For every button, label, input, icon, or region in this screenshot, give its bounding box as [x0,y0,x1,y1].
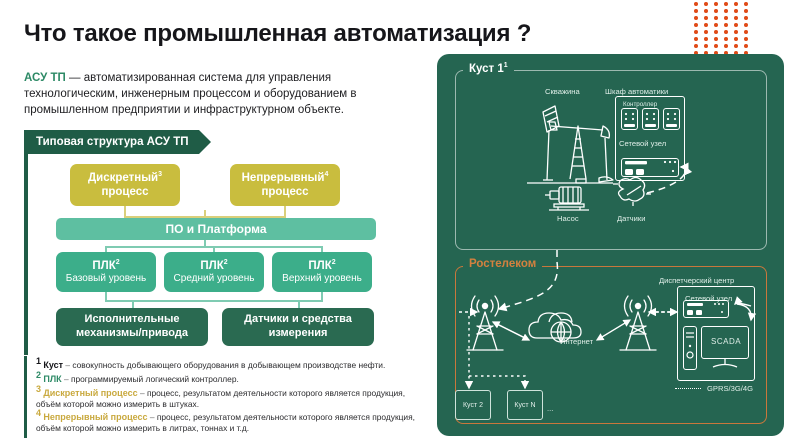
footnote-term: ПЛК [43,374,61,384]
decorative-dot [714,30,718,34]
footnote-dash: – [65,360,70,370]
node-platform-label: ПО и Платформа [165,222,266,237]
mini-kust-n[interactable]: Куст N [507,390,543,420]
decorative-dot [694,44,698,48]
node-discrete-process[interactable]: Дискретный3 процесс [70,164,180,206]
node-actuators[interactable]: Исполнительные механизмы/привода [56,308,208,346]
intro-paragraph: АСУ ТП — автоматизированная система для … [24,70,384,118]
decorative-dot [714,37,718,41]
decorative-dot [734,30,738,34]
node-plc-top-line2: Верхний уровень [282,273,362,286]
connector-actuators-up [132,300,134,308]
node-continuous-line1: Непрерывный4 [242,171,329,185]
node-discrete-line2: процесс [101,185,148,199]
mini-kust-2[interactable]: Куст 2 [455,390,491,420]
decorative-dot [744,23,748,27]
footnote-item: 4 Непрерывный процесс – процесс, результ… [36,408,429,435]
footnote-term: Непрерывный процесс [43,412,147,422]
node-actuators-line2: механизмы/привода [76,327,188,341]
decorative-dot [724,9,728,13]
scada-monitor-stand [437,54,784,436]
decorative-dot [714,23,718,27]
decorative-dot [724,16,728,20]
node-software-platform[interactable]: ПО и Платформа [56,218,376,240]
node-plc-base-line2: Базовый уровень [66,273,146,286]
decorative-dot [724,2,728,6]
footnote-marker: 2 [36,370,41,380]
decorative-dot [724,23,728,27]
architecture-scheme-panel: Куст 11 Ростелеком Скважина Шкаф автомат… [437,54,784,436]
decorative-dot [704,2,708,6]
page-title: Что такое промышленная автоматизация ? [24,20,531,48]
legend-gprs: GPRS/3G/4G [675,384,753,393]
legend-gprs-label: GPRS/3G/4G [707,384,753,393]
node-plc-mid-line1: ПЛК2 [200,259,227,273]
decorative-dot [724,37,728,41]
decorative-dot [734,9,738,13]
structure-diagram: Типовая структура АСУ ТП Дискретный3 про… [24,130,414,355]
structure-left-rail [24,130,28,355]
connector-join-to-platform [204,210,206,218]
footnote-marker: 1 [36,356,41,366]
decorative-dot [704,23,708,27]
intro-body-text: — автоматизированная система для управле… [24,72,356,116]
decorative-dot [734,44,738,48]
decorative-dot [704,44,708,48]
decorative-dot [734,37,738,41]
decorative-dot [704,9,708,13]
decorative-dot [744,2,748,6]
decorative-dot [744,16,748,20]
decorative-dot [744,37,748,41]
footnote-dash: – [140,388,145,398]
decorative-dot [694,2,698,6]
node-plc-mid-line2: Средний уровень [174,273,255,286]
decorative-dot [724,30,728,34]
footnote-item: 3 Дискретный процесс – процесс, результа… [36,384,429,411]
decorative-dot [734,16,738,20]
decorative-dot-grid [691,0,751,56]
intro-accent-term: АСУ ТП [24,72,66,84]
node-plc-top-line1: ПЛК2 [308,259,335,273]
decorative-dot [694,16,698,20]
node-continuous-process[interactable]: Непрерывный4 процесс [230,164,340,206]
decorative-dot [694,23,698,27]
decorative-dot [744,44,748,48]
node-continuous-sup: 4 [324,171,328,178]
node-plc-mid-level[interactable]: ПЛК2 Средний уровень [164,252,264,292]
decorative-dot [714,16,718,20]
footnotes-block: 1 Куст – совокупность добывающего оборуд… [24,356,429,438]
node-plc-mid-sup: 2 [224,259,228,266]
footnote-term: Дискретный процесс [43,388,137,398]
structure-banner: Типовая структура АСУ ТП [28,130,199,154]
footnote-text: программируемый логический контроллер. [71,374,239,384]
decorative-dot [694,9,698,13]
footnote-dash: – [64,374,69,384]
node-continuous-line2: процесс [261,185,308,199]
decorative-dot [714,9,718,13]
footnote-dash: – [150,412,155,422]
footnote-item: 1 Куст – совокупность добывающего оборуд… [36,356,429,371]
node-actuators-line1: Исполнительные [85,313,180,327]
decorative-dot [704,37,708,41]
footnote-marker: 3 [36,384,41,394]
decorative-dot [744,9,748,13]
decorative-dot [734,2,738,6]
node-discrete-sup: 3 [158,171,162,178]
node-plc-base-sup: 2 [116,259,120,266]
node-discrete-line1: Дискретный3 [88,171,162,185]
decorative-dot [734,23,738,27]
footnote-text: совокупность добывающего оборудования в … [72,360,385,370]
node-sensors-line1: Датчики и средства [244,313,352,327]
decorative-dot [744,30,748,34]
legend-dotted-line-icon [675,388,701,389]
connector-sensors-up [298,300,300,308]
decorative-dot [704,16,708,20]
footnote-item: 2 ПЛК – программируемый логический контр… [36,370,429,385]
decorative-dot [724,44,728,48]
mini-kust-ellipsis: ... [547,404,553,413]
node-plc-base-line1: ПЛК2 [92,259,119,273]
node-sensors-line2: измерения [269,327,328,341]
decorative-dot [694,37,698,41]
connector-bottom-bus [105,300,322,302]
footnote-term: Куст [43,360,63,370]
node-plc-top-level[interactable]: ПЛК2 Верхний уровень [272,252,372,292]
footnote-marker: 4 [36,408,41,418]
decorative-dot [704,30,708,34]
decorative-dot [714,2,718,6]
decorative-dot [714,44,718,48]
decorative-dot [694,30,698,34]
footnotes-left-rail [24,356,27,438]
node-sensors-measurement[interactable]: Датчики и средства измерения [222,308,374,346]
node-plc-base-level[interactable]: ПЛК2 Базовый уровень [56,252,156,292]
node-plc-top-sup: 2 [332,259,336,266]
